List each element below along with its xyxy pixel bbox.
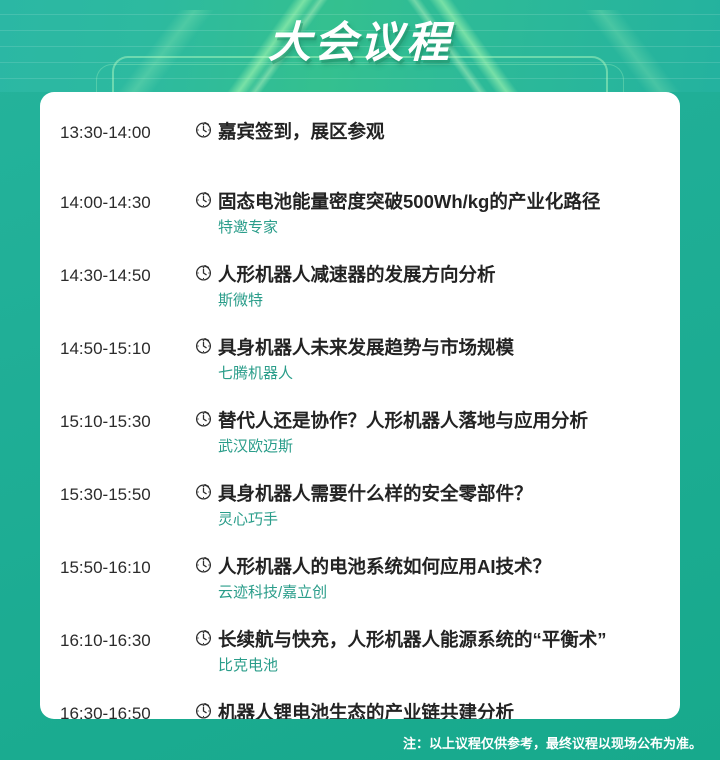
agenda-row-speaker: 比克电池 xyxy=(218,654,662,677)
agenda-row-speaker: 武汉欧迈斯 xyxy=(218,435,662,458)
clock-icon xyxy=(188,180,218,208)
clock-icon xyxy=(188,545,218,573)
agenda-row[interactable]: 14:30-14:50人形机器人减速器的发展方向分析斯微特 xyxy=(40,253,680,312)
agenda-row-time: 15:30-15:50 xyxy=(60,472,188,507)
page-banner: 大会议程 xyxy=(0,0,720,92)
clock-icon xyxy=(188,472,218,500)
clock-icon xyxy=(188,399,218,427)
agenda-row[interactable]: 15:30-15:50具身机器人需要什么样的安全零部件？灵心巧手 xyxy=(40,472,680,531)
agenda-row-body: 替代人还是协作？人形机器人落地与应用分析武汉欧迈斯 xyxy=(218,399,662,458)
agenda-row-time: 14:00-14:30 xyxy=(60,180,188,215)
agenda-row-speaker: 斯微特 xyxy=(218,289,662,312)
agenda-row[interactable]: 13:30-14:00嘉宾签到，展区参观 xyxy=(40,110,680,164)
agenda-page: 大会议程 13:30-14:00嘉宾签到，展区参观14:00-14:30固态电池… xyxy=(0,0,720,760)
agenda-row-time: 16:30-16:50 xyxy=(60,691,188,719)
agenda-row-body: 人形机器人的电池系统如何应用AI技术？云迹科技/嘉立创 xyxy=(218,545,662,604)
agenda-row-time: 15:50-16:10 xyxy=(60,545,188,580)
page-title: 大会议程 xyxy=(0,8,720,70)
agenda-row[interactable]: 14:50-15:10具身机器人未来发展趋势与市场规模七腾机器人 xyxy=(40,326,680,385)
agenda-row-title: 嘉宾签到，展区参观 xyxy=(218,118,662,145)
agenda-row-title: 固态电池能量密度突破500Wh/kg的产业化路径 xyxy=(218,188,662,215)
agenda-row-body: 嘉宾签到，展区参观 xyxy=(218,110,662,145)
agenda-row-time: 14:50-15:10 xyxy=(60,326,188,361)
clock-icon xyxy=(188,618,218,646)
agenda-row-time: 15:10-15:30 xyxy=(60,399,188,434)
agenda-row-speaker: 特邀专家 xyxy=(218,216,662,239)
agenda-row-time: 14:30-14:50 xyxy=(60,253,188,288)
footer-disclaimer-note: 注：以上议程仅供参考，最终议程以现场公布为准。 xyxy=(403,733,702,752)
agenda-row-title: 具身机器人需要什么样的安全零部件？ xyxy=(218,480,662,507)
clock-icon xyxy=(188,326,218,354)
agenda-row-time: 16:10-16:30 xyxy=(60,618,188,653)
agenda-card: 13:30-14:00嘉宾签到，展区参观14:00-14:30固态电池能量密度突… xyxy=(40,92,680,719)
agenda-list: 13:30-14:00嘉宾签到，展区参观14:00-14:30固态电池能量密度突… xyxy=(40,110,680,719)
clock-icon xyxy=(188,110,218,138)
agenda-row-speaker: 云迹科技/嘉立创 xyxy=(218,581,662,604)
agenda-row-speaker: 七腾机器人 xyxy=(218,362,662,385)
agenda-row[interactable]: 16:10-16:30长续航与快充，人形机器人能源系统的“平衡术”比克电池 xyxy=(40,618,680,677)
agenda-row-speaker: 灵心巧手 xyxy=(218,508,662,531)
agenda-row-body: 具身机器人未来发展趋势与市场规模七腾机器人 xyxy=(218,326,662,385)
agenda-row-body: 长续航与快充，人形机器人能源系统的“平衡术”比克电池 xyxy=(218,618,662,677)
agenda-row-body: 人形机器人减速器的发展方向分析斯微特 xyxy=(218,253,662,312)
agenda-row-title: 替代人还是协作？人形机器人落地与应用分析 xyxy=(218,407,662,434)
agenda-row-title: 长续航与快充，人形机器人能源系统的“平衡术” xyxy=(218,626,662,653)
agenda-row-body: 固态电池能量密度突破500Wh/kg的产业化路径特邀专家 xyxy=(218,180,662,239)
clock-icon xyxy=(188,253,218,281)
agenda-row[interactable]: 15:50-16:10人形机器人的电池系统如何应用AI技术？云迹科技/嘉立创 xyxy=(40,545,680,604)
agenda-row-title: 人形机器人减速器的发展方向分析 xyxy=(218,261,662,288)
agenda-row-title: 机器人锂电池生态的产业链共建分析 xyxy=(218,699,662,719)
agenda-row-body: 机器人锂电池生态的产业链共建分析瑞浦兰钧 xyxy=(218,691,662,719)
agenda-row-time: 13:30-14:00 xyxy=(60,110,188,145)
clock-icon xyxy=(188,691,218,719)
agenda-row-title: 人形机器人的电池系统如何应用AI技术？ xyxy=(218,553,662,580)
agenda-row[interactable]: 15:10-15:30替代人还是协作？人形机器人落地与应用分析武汉欧迈斯 xyxy=(40,399,680,458)
agenda-row[interactable]: 16:30-16:50机器人锂电池生态的产业链共建分析瑞浦兰钧 xyxy=(40,691,680,719)
agenda-row[interactable]: 14:00-14:30固态电池能量密度突破500Wh/kg的产业化路径特邀专家 xyxy=(40,180,680,239)
agenda-row-title: 具身机器人未来发展趋势与市场规模 xyxy=(218,334,662,361)
agenda-row-body: 具身机器人需要什么样的安全零部件？灵心巧手 xyxy=(218,472,662,531)
